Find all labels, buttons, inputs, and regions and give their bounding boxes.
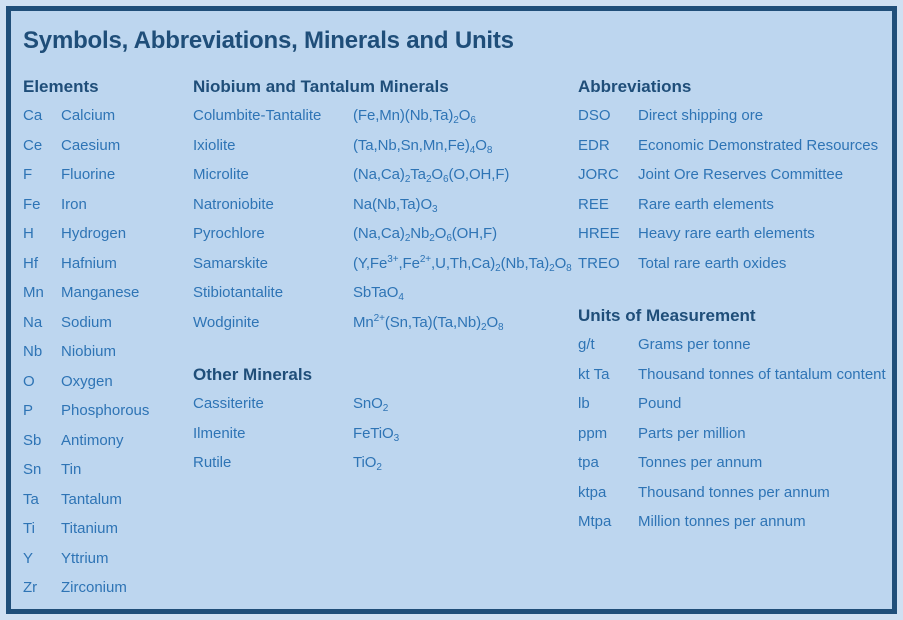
other-minerals-list: CassiteriteSnO2IlmeniteFeTiO3RutileTiO2 [193, 393, 583, 482]
table-row: DSODirect shipping ore [578, 105, 898, 135]
mineral-name: Microlite [193, 164, 353, 186]
glossary-panel: Symbols, Abbreviations, Minerals and Uni… [6, 6, 897, 614]
unit-meaning: Thousand tonnes of tantalum content [638, 364, 886, 386]
table-row: SbAntimony [23, 430, 203, 460]
element-name: Tantalum [61, 489, 122, 511]
table-row: NaSodium [23, 312, 203, 342]
unit-meaning: Grams per tonne [638, 334, 751, 356]
table-row: StibiotantaliteSbTaO4 [193, 282, 583, 312]
element-name: Phosphorous [61, 400, 149, 422]
table-row: lbPound [578, 393, 898, 423]
table-row: tpaTonnes per annum [578, 452, 898, 482]
table-row: CaCalcium [23, 105, 203, 135]
section-heading-other-minerals: Other Minerals [193, 363, 583, 393]
element-symbol: Nb [23, 341, 61, 363]
table-row: Samarskite(Y,Fe3+,Fe2+,U,Th,Ca)2(Nb,Ta)2… [193, 253, 583, 283]
section-heading-elements: Elements [23, 75, 203, 105]
unit-meaning: Thousand tonnes per annum [638, 482, 830, 504]
abbreviations-column: Abbreviations DSODirect shipping oreEDRE… [578, 75, 898, 541]
element-symbol: Sn [23, 459, 61, 481]
mineral-formula: (Fe,Mn)(Nb,Ta)2O6 [353, 105, 476, 127]
mineral-formula: Mn2+(Sn,Ta)(Ta,Nb)2O8 [353, 312, 503, 334]
mineral-name: Columbite-Tantalite [193, 105, 353, 127]
element-name: Iron [61, 194, 87, 216]
element-symbol: Ti [23, 518, 61, 540]
table-row: PPhosphorous [23, 400, 203, 430]
unit-code: g/t [578, 334, 638, 356]
table-row: IlmeniteFeTiO3 [193, 423, 583, 453]
table-row: TREOTotal rare earth oxides [578, 253, 898, 283]
table-row: MtpaMillion tonnes per annum [578, 511, 898, 541]
abbreviation-meaning: Total rare earth oxides [638, 253, 786, 275]
abbreviation-meaning: Rare earth elements [638, 194, 774, 216]
table-row: RutileTiO2 [193, 452, 583, 482]
mineral-name: Natroniobite [193, 194, 353, 216]
elements-list: CaCalciumCeCaesiumFFluorineFeIronHHydrog… [23, 105, 203, 607]
minerals-column: Niobium and Tantalum Minerals Columbite-… [193, 75, 583, 482]
element-symbol: Y [23, 548, 61, 570]
section-heading-units: Units of Measurement [578, 304, 898, 334]
abbreviation-code: TREO [578, 253, 638, 275]
element-name: Tin [61, 459, 81, 481]
table-row: REERare earth elements [578, 194, 898, 224]
table-row: CassiteriteSnO2 [193, 393, 583, 423]
element-name: Fluorine [61, 164, 115, 186]
element-name: Calcium [61, 105, 115, 127]
table-row: TiTitanium [23, 518, 203, 548]
mineral-formula: (Y,Fe3+,Fe2+,U,Th,Ca)2(Nb,Ta)2O8 [353, 253, 572, 275]
table-row: ktpaThousand tonnes per annum [578, 482, 898, 512]
mineral-name: Ilmenite [193, 423, 353, 445]
units-list: g/tGrams per tonnekt TaThousand tonnes o… [578, 334, 898, 541]
element-symbol: Ca [23, 105, 61, 127]
element-symbol: Hf [23, 253, 61, 275]
unit-code: ktpa [578, 482, 638, 504]
page-title: Symbols, Abbreviations, Minerals and Uni… [23, 27, 514, 55]
element-name: Oxygen [61, 371, 113, 393]
table-row: Microlite(Na,Ca)2Ta2O6(O,OH,F) [193, 164, 583, 194]
abbreviations-list: DSODirect shipping oreEDREconomic Demons… [578, 105, 898, 282]
table-row: NatroniobiteNa(Nb,Ta)O3 [193, 194, 583, 224]
mineral-name: Pyrochlore [193, 223, 353, 245]
table-row: SnTin [23, 459, 203, 489]
abbreviation-meaning: Heavy rare earth elements [638, 223, 815, 245]
element-symbol: P [23, 400, 61, 422]
element-symbol: Na [23, 312, 61, 334]
element-symbol: F [23, 164, 61, 186]
mineral-formula: FeTiO3 [353, 423, 399, 445]
abbreviation-code: HREE [578, 223, 638, 245]
abbreviation-code: JORC [578, 164, 638, 186]
element-name: Niobium [61, 341, 116, 363]
section-heading-abbreviations: Abbreviations [578, 75, 898, 105]
mineral-name: Wodginite [193, 312, 353, 334]
mineral-name: Ixiolite [193, 135, 353, 157]
unit-meaning: Million tonnes per annum [638, 511, 806, 533]
mineral-formula: (Ta,Nb,Sn,Mn,Fe)4O8 [353, 135, 492, 157]
abbreviation-code: REE [578, 194, 638, 216]
table-row: MnManganese [23, 282, 203, 312]
element-symbol: Mn [23, 282, 61, 304]
mineral-name: Samarskite [193, 253, 353, 275]
table-row: OOxygen [23, 371, 203, 401]
table-row: HREEHeavy rare earth elements [578, 223, 898, 253]
table-row: ZrZirconium [23, 577, 203, 607]
table-row: HfHafnium [23, 253, 203, 283]
mineral-formula: (Na,Ca)2Nb2O6(OH,F) [353, 223, 497, 245]
unit-code: ppm [578, 423, 638, 445]
element-symbol: O [23, 371, 61, 393]
unit-meaning: Parts per million [638, 423, 746, 445]
element-symbol: Ce [23, 135, 61, 157]
abbreviation-code: EDR [578, 135, 638, 157]
mineral-name: Cassiterite [193, 393, 353, 415]
element-name: Titanium [61, 518, 118, 540]
mineral-formula: Na(Nb,Ta)O3 [353, 194, 438, 216]
table-row: YYttrium [23, 548, 203, 578]
element-symbol: Ta [23, 489, 61, 511]
abbreviation-code: DSO [578, 105, 638, 127]
mineral-formula: TiO2 [353, 452, 382, 474]
table-row: WodginiteMn2+(Sn,Ta)(Ta,Nb)2O8 [193, 312, 583, 342]
unit-code: lb [578, 393, 638, 415]
unit-meaning: Pound [638, 393, 681, 415]
element-name: Manganese [61, 282, 139, 304]
mineral-name: Stibiotantalite [193, 282, 353, 304]
elements-column: Elements CaCalciumCeCaesiumFFluorineFeIr… [23, 75, 203, 607]
table-row: TaTantalum [23, 489, 203, 519]
table-row: FeIron [23, 194, 203, 224]
element-name: Yttrium [61, 548, 109, 570]
mineral-formula: (Na,Ca)2Ta2O6(O,OH,F) [353, 164, 509, 186]
element-name: Zirconium [61, 577, 127, 599]
element-name: Antimony [61, 430, 124, 452]
element-symbol: Fe [23, 194, 61, 216]
abbreviation-meaning: Economic Demonstrated Resources [638, 135, 878, 157]
table-row: Ixiolite(Ta,Nb,Sn,Mn,Fe)4O8 [193, 135, 583, 165]
table-row: g/tGrams per tonne [578, 334, 898, 364]
element-symbol: H [23, 223, 61, 245]
unit-code: kt Ta [578, 364, 638, 386]
unit-code: Mtpa [578, 511, 638, 533]
table-row: NbNiobium [23, 341, 203, 371]
abbreviation-meaning: Joint Ore Reserves Committee [638, 164, 843, 186]
section-heading-minerals: Niobium and Tantalum Minerals [193, 75, 583, 105]
unit-meaning: Tonnes per annum [638, 452, 762, 474]
abbreviation-meaning: Direct shipping ore [638, 105, 763, 127]
table-row: HHydrogen [23, 223, 203, 253]
element-symbol: Sb [23, 430, 61, 452]
unit-code: tpa [578, 452, 638, 474]
element-name: Hydrogen [61, 223, 126, 245]
table-row: EDREconomic Demonstrated Resources [578, 135, 898, 165]
element-name: Caesium [61, 135, 120, 157]
element-name: Hafnium [61, 253, 117, 275]
mineral-name: Rutile [193, 452, 353, 474]
table-row: CeCaesium [23, 135, 203, 165]
element-name: Sodium [61, 312, 112, 334]
table-row: Columbite-Tantalite(Fe,Mn)(Nb,Ta)2O6 [193, 105, 583, 135]
table-row: ppmParts per million [578, 423, 898, 453]
table-row: Pyrochlore(Na,Ca)2Nb2O6(OH,F) [193, 223, 583, 253]
element-symbol: Zr [23, 577, 61, 599]
table-row: JORCJoint Ore Reserves Committee [578, 164, 898, 194]
table-row: FFluorine [23, 164, 203, 194]
table-row: kt TaThousand tonnes of tantalum content [578, 364, 898, 394]
mineral-formula: SnO2 [353, 393, 388, 415]
minerals-list: Columbite-Tantalite(Fe,Mn)(Nb,Ta)2O6Ixio… [193, 105, 583, 341]
mineral-formula: SbTaO4 [353, 282, 404, 304]
